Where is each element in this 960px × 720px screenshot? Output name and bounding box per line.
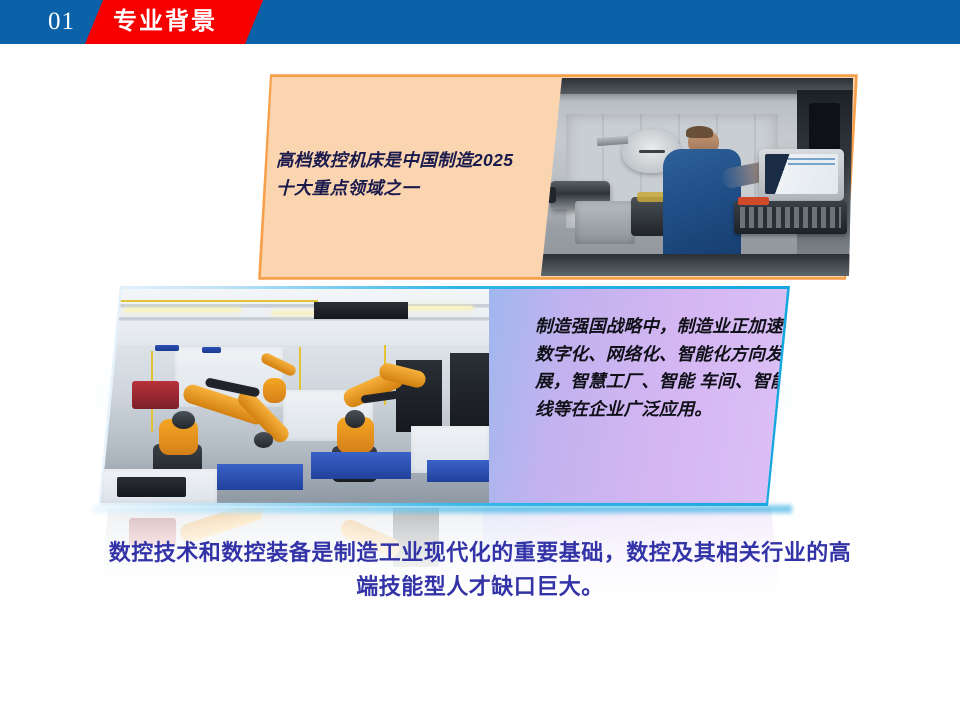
factory-blue-conveyor — [217, 464, 302, 490]
factory-blue-sign — [202, 347, 221, 353]
card-smart-manufacturing: 制造强国战略中，制造业正加速向数字化、网络化、智能化方向发展，智慧工厂、智能 车… — [98, 286, 790, 506]
industrial-robot-arm — [248, 353, 310, 409]
robot-upper-arm — [259, 351, 297, 377]
factory-ceiling-beam — [101, 317, 489, 320]
factory-yellow-rail — [117, 300, 319, 302]
cnc-photo-scene — [541, 78, 853, 276]
robot-joint — [345, 410, 365, 428]
robot-body — [263, 378, 285, 404]
page-title: 专业背景 — [113, 8, 217, 36]
robot-factory-production-line-photo — [101, 289, 489, 503]
cnc-machine-base — [575, 201, 634, 245]
section-number: 01 — [48, 7, 75, 37]
reflection-top-edge-glow — [92, 505, 792, 513]
factory-blue-conveyor — [311, 452, 412, 480]
cnc-control-monitor — [759, 149, 843, 200]
cnc-machine-operator-photo — [541, 78, 853, 276]
presentation-slide: 01 专业背景 — [0, 0, 960, 720]
card-smart-manufacturing-text: 制造强国战略中，制造业正加速向数字化、网络化、智能化方向发展，智慧工厂、智能 车… — [535, 313, 787, 423]
robot-joint — [254, 432, 274, 448]
card-machine-tool: 高档数控机床是中国制造2025十大重点领域之一 — [258, 74, 858, 280]
slide-header-bar: 01 专业背景 — [0, 0, 960, 44]
card-smart-manufacturing-background: 制造强国战略中，制造业正加速向数字化、网络化、智能化方向发展，智慧工厂、智能 车… — [101, 289, 787, 503]
factory-light-tube — [124, 308, 240, 312]
cnc-floor — [541, 254, 853, 276]
cnc-monitor-screen — [765, 154, 837, 193]
factory-blue-conveyor — [427, 460, 489, 481]
summary-text: 数控技术和数控装备是制造工业现代化的重要基础，数控及其相关行业的高端技能型人才缺… — [100, 536, 860, 604]
factory-foreground-tray — [117, 477, 187, 496]
factory-blue-sign — [155, 345, 178, 351]
cnc-control-keypad — [734, 201, 846, 235]
factory-photo-scene — [101, 289, 489, 503]
cnc-control-buttons — [738, 197, 769, 205]
card-machine-tool-text: 高档数控机床是中国制造2025十大重点领域之一 — [276, 146, 526, 202]
factory-overhead-duct — [314, 302, 407, 319]
